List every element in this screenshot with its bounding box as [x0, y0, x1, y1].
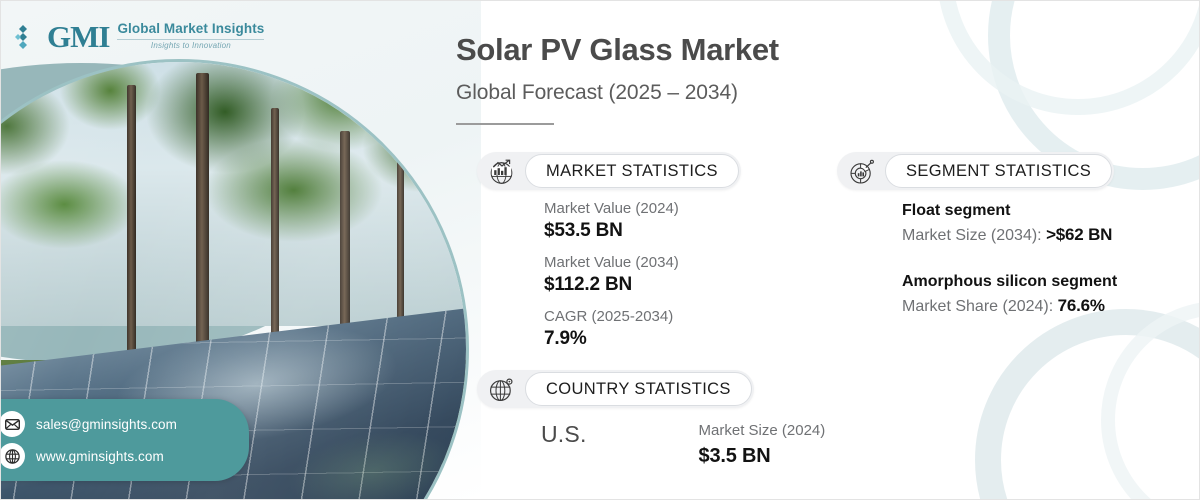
logo-initials: GMI	[47, 21, 109, 52]
market-statistics-label-box: MARKET STATISTICS	[525, 154, 739, 188]
logo-company-name: Global Market Insights	[117, 22, 264, 37]
envelope-icon	[0, 411, 25, 437]
logo-divider	[117, 39, 264, 40]
country-name: U.S.	[541, 421, 587, 449]
stat-value: $112.2 BN	[544, 273, 679, 298]
segment-metric-value: 76.6%	[1058, 296, 1105, 315]
market-statistics-list: Market Value (2024) $53.5 BN Market Valu…	[544, 199, 679, 361]
contact-website-row[interactable]: www.gminsights.com	[0, 440, 239, 472]
country-metric-label: Market Size (2024)	[699, 421, 826, 441]
stat-value: $53.5 BN	[544, 219, 679, 244]
segment-statistics-label: SEGMENT STATISTICS	[906, 162, 1091, 181]
segment-title: Amorphous silicon segment	[902, 270, 1117, 294]
country-metric-value: $3.5 BN	[699, 443, 826, 469]
contact-website-text: www.gminsights.com	[36, 449, 164, 464]
market-statistics-header: MARKET STATISTICS	[477, 152, 741, 190]
gmi-monogram-icon	[15, 22, 39, 52]
stat-label: Market Value (2024)	[544, 199, 679, 219]
segment-statistics-label-box: SEGMENT STATISTICS	[885, 154, 1112, 188]
country-statistics-label-box: COUNTRY STATISTICS	[525, 372, 752, 406]
stat-label: Market Value (2034)	[544, 253, 679, 273]
segment-item: Amorphous silicon segment Market Share (…	[902, 270, 1117, 319]
brand-logo[interactable]: GMI Global Market Insights Insights to I…	[15, 21, 264, 52]
stat-item: Market Value (2024) $53.5 BN	[544, 199, 679, 244]
segment-metric-line: Market Size (2034): >$62 BN	[902, 223, 1117, 248]
market-statistics-label: MARKET STATISTICS	[546, 162, 718, 181]
globe-pin-icon	[477, 376, 525, 403]
segment-statistics-header: SEGMENT STATISTICS	[837, 152, 1114, 190]
segment-statistics-list: Float segment Market Size (2034): >$62 B…	[902, 199, 1117, 340]
segment-metric-line: Market Share (2024): 76.6%	[902, 294, 1117, 319]
segment-metric-label: Market Size (2034):	[902, 227, 1046, 244]
page-subtitle: Global Forecast (2025 – 2034)	[456, 81, 1156, 105]
globe-bar-chart-icon	[477, 158, 525, 185]
segment-item: Float segment Market Size (2034): >$62 B…	[902, 199, 1117, 248]
stat-item: Market Value (2034) $112.2 BN	[544, 253, 679, 298]
country-statistics-content: U.S. Market Size (2024) $3.5 BN	[541, 421, 825, 469]
segment-metric-value: >$62 BN	[1046, 225, 1112, 244]
stat-value: 7.9%	[544, 327, 679, 352]
segment-metric-label: Market Share (2024):	[902, 298, 1058, 315]
country-statistics-header: COUNTRY STATISTICS	[477, 370, 754, 408]
donut-chart-arrow-icon	[837, 158, 885, 185]
country-metric: Market Size (2024) $3.5 BN	[699, 421, 826, 469]
contact-email-text: sales@gminsights.com	[36, 417, 177, 432]
contact-email-row[interactable]: sales@gminsights.com	[0, 408, 239, 440]
title-underline	[456, 123, 554, 125]
globe-icon	[0, 443, 25, 469]
contact-panel: sales@gminsights.com www.gminsights.com	[0, 399, 249, 481]
segment-title: Float segment	[902, 199, 1117, 223]
logo-tagline: Insights to Innovation	[117, 42, 264, 51]
stat-label: CAGR (2025-2034)	[544, 307, 679, 327]
title-block: Solar PV Glass Market Global Forecast (2…	[456, 31, 1156, 125]
stat-item: CAGR (2025-2034) 7.9%	[544, 307, 679, 352]
infographic-canvas: sales@gminsights.com www.gminsights.com	[0, 0, 1200, 500]
page-title: Solar PV Glass Market	[456, 31, 1156, 68]
country-statistics-label: COUNTRY STATISTICS	[546, 380, 731, 399]
logo-wordmark: Global Market Insights Insights to Innov…	[117, 22, 264, 50]
